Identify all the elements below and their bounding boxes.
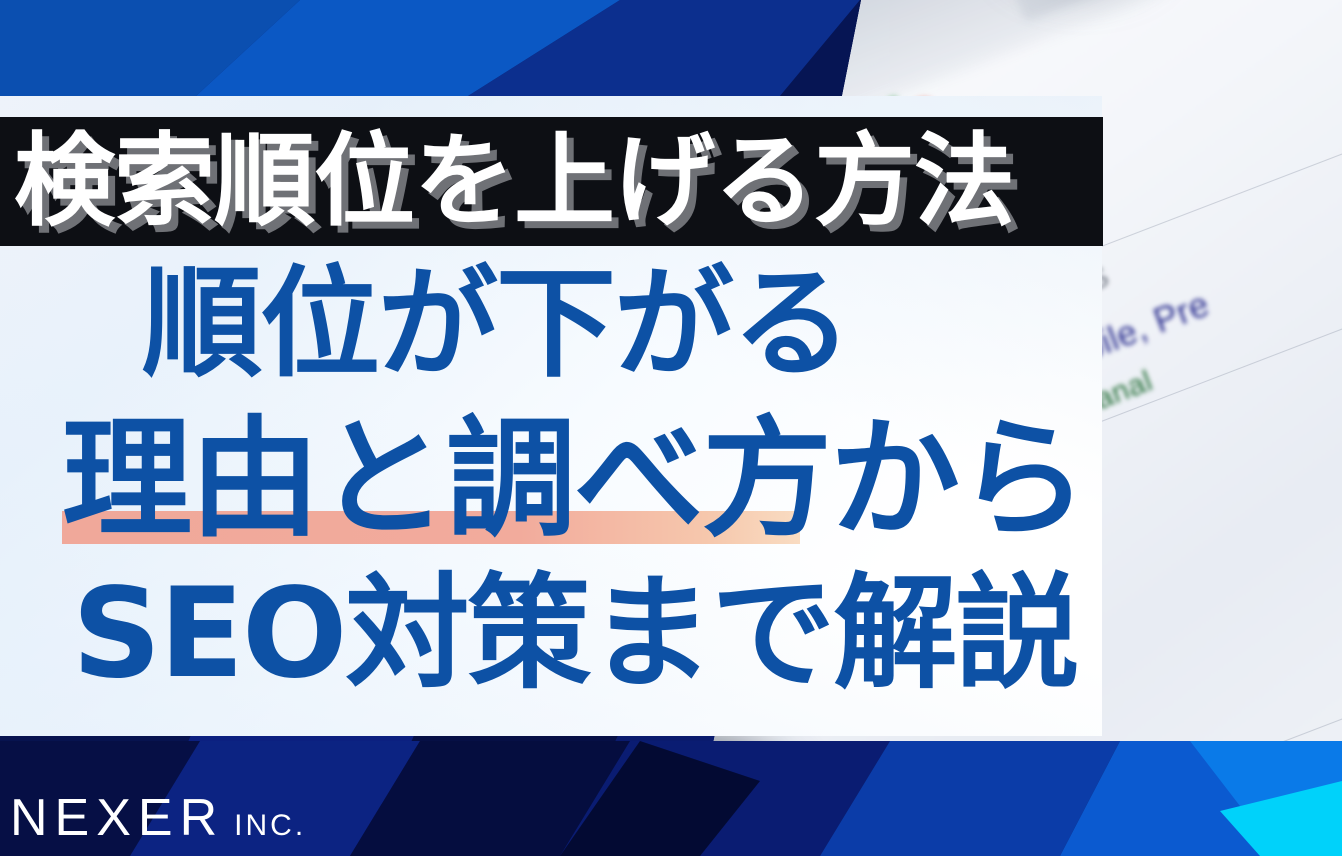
brand-logo: NEXER INC. bbox=[10, 792, 306, 844]
headline-row: 順位が下がる bbox=[0, 250, 1102, 400]
headline-line-2: 理由と調べ方から bbox=[62, 414, 1086, 544]
thumbnail-canvas: Google IMAGES NEWS APPS Analytics - Mobi… bbox=[0, 0, 1342, 856]
headline-line-3: SEO対策まで解説 bbox=[72, 572, 1077, 696]
keyword-banner: 検索順位を上げる方法 bbox=[0, 117, 1103, 246]
headline-row: 理由と調べ方から bbox=[0, 400, 1102, 558]
brand-logo-mark: NEXER bbox=[10, 792, 224, 844]
keyword-banner-label: 検索順位を上げる方法 bbox=[14, 131, 1014, 232]
headline-line-1: 順位が下がる bbox=[142, 265, 850, 385]
headline-block: 順位が下がる 理由と調べ方から SEO対策まで解説 bbox=[0, 250, 1102, 710]
headline-row: SEO対策まで解説 bbox=[0, 558, 1102, 710]
brand-logo-suffix: INC. bbox=[234, 811, 306, 841]
